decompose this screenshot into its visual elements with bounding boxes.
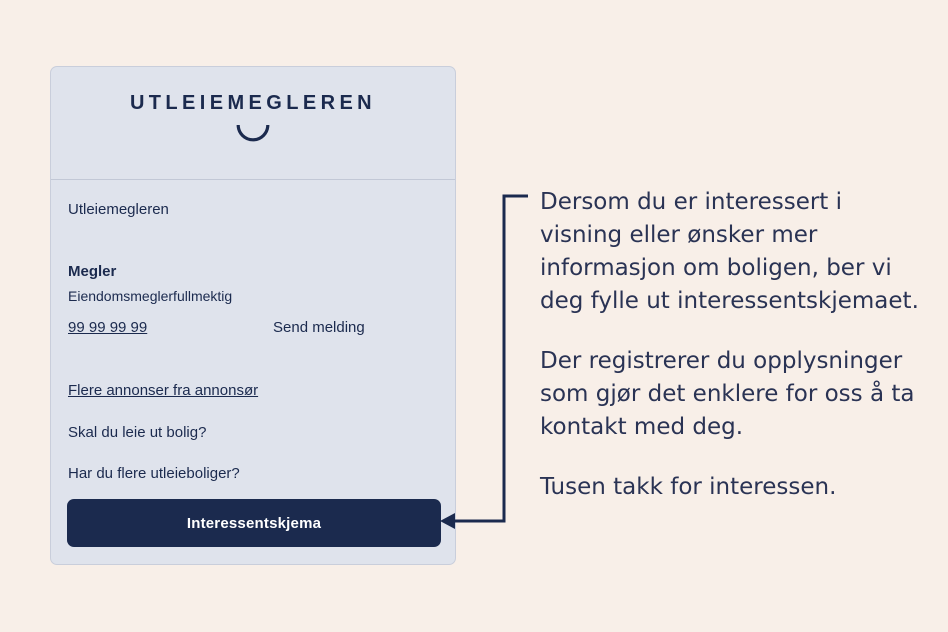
contact-row: 99 99 99 99 Send melding: [68, 319, 438, 336]
annotation-paragraph-2: Der registrerer du opplysninger som gjør…: [540, 345, 920, 444]
multiple-rentals-link[interactable]: Har du flere utleieboliger?: [68, 465, 438, 482]
broker-contact-card: UTLEIEMEGLEREN Utleiemegleren Megler Eie…: [50, 66, 456, 565]
annotation-paragraph-3: Tusen takk for interessen.: [540, 471, 920, 504]
brand-wordmark: UTLEIEMEGLEREN: [130, 92, 376, 115]
phone-number-link[interactable]: 99 99 99 99: [68, 319, 273, 336]
annotation-text: Dersom du er interessert i visning eller…: [540, 186, 920, 504]
card-body: Utleiemegleren Megler Eiendomsmeglerfull…: [51, 180, 455, 482]
send-message-link[interactable]: Send melding: [273, 319, 365, 336]
smile-arc-icon: [236, 123, 270, 143]
agent-role-subtitle: Eiendomsmeglerfullmektig: [68, 286, 438, 306]
annotation-paragraph-1: Dersom du er interessert i visning eller…: [540, 186, 920, 318]
rent-out-home-link[interactable]: Skal du leie ut bolig?: [68, 424, 438, 441]
interest-form-button[interactable]: Interessentskjema: [67, 499, 441, 547]
more-ads-from-advertiser-link[interactable]: Flere annonser fra annonsør: [68, 382, 258, 399]
agent-role-title: Megler: [68, 262, 438, 282]
card-header: UTLEIEMEGLEREN: [51, 67, 455, 180]
agency-name: Utleiemegleren: [68, 200, 438, 220]
agent-block: Megler Eiendomsmeglerfullmektig: [68, 262, 438, 306]
